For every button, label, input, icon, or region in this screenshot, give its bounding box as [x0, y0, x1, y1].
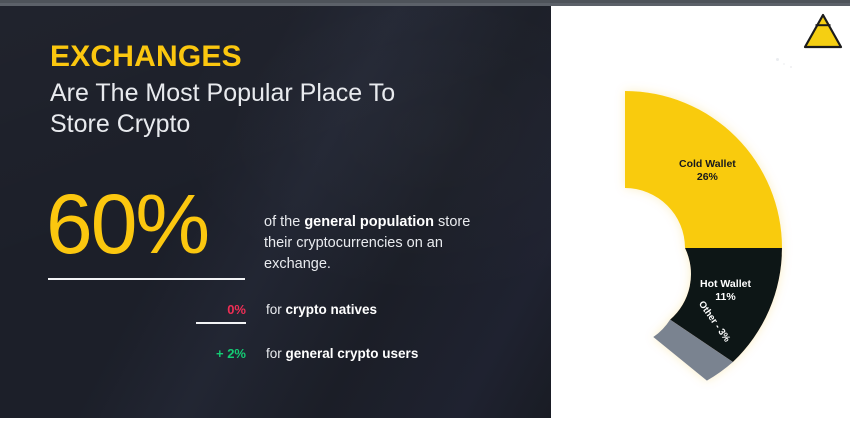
description-pre: of the	[264, 214, 304, 230]
decorative-speck	[776, 58, 779, 61]
secondary-stat-label: for general crypto users	[266, 346, 418, 361]
window-top-strip-shade	[0, 0, 850, 3]
stat-divider-secondary	[196, 322, 246, 324]
secondary-stat-label-pre: for	[266, 346, 286, 361]
secondary-stats-list: 0% for crypto natives + 2% for general c…	[46, 296, 466, 366]
triangle-logo-icon	[803, 13, 843, 49]
list-item: 0% for crypto natives	[46, 296, 466, 322]
big-stat-description: of the general population store their cr…	[264, 186, 479, 275]
chart-slice-cold-wallet	[625, 91, 782, 248]
headline-stat-row: 60% of the general population store thei…	[46, 186, 506, 275]
page-subtitle: Are The Most Popular Place To Store Cryp…	[50, 78, 450, 139]
page-title: EXCHANGES	[50, 42, 450, 72]
big-stat-value: 60%	[46, 186, 246, 263]
secondary-stat-label-pre: for	[266, 302, 286, 317]
description-emphasis: general population	[304, 214, 434, 230]
slide-canvas: EXCHANGES Are The Most Popular Place To …	[0, 0, 850, 429]
headline-block: EXCHANGES Are The Most Popular Place To …	[50, 42, 450, 139]
secondary-stat-value: 0%	[46, 302, 246, 317]
secondary-stat-label-bold: general crypto users	[286, 346, 419, 361]
donut-chart	[551, 6, 850, 429]
stat-divider-primary	[48, 278, 245, 280]
headline-stat-block: 60% of the general population store thei…	[46, 186, 506, 275]
list-item: + 2% for general crypto users	[46, 340, 466, 366]
secondary-stat-label: for crypto natives	[266, 302, 377, 317]
decorative-speck	[790, 66, 792, 68]
secondary-stat-label-bold: crypto natives	[286, 302, 378, 317]
secondary-stat-value: + 2%	[46, 346, 246, 361]
decorative-speck	[783, 63, 785, 65]
